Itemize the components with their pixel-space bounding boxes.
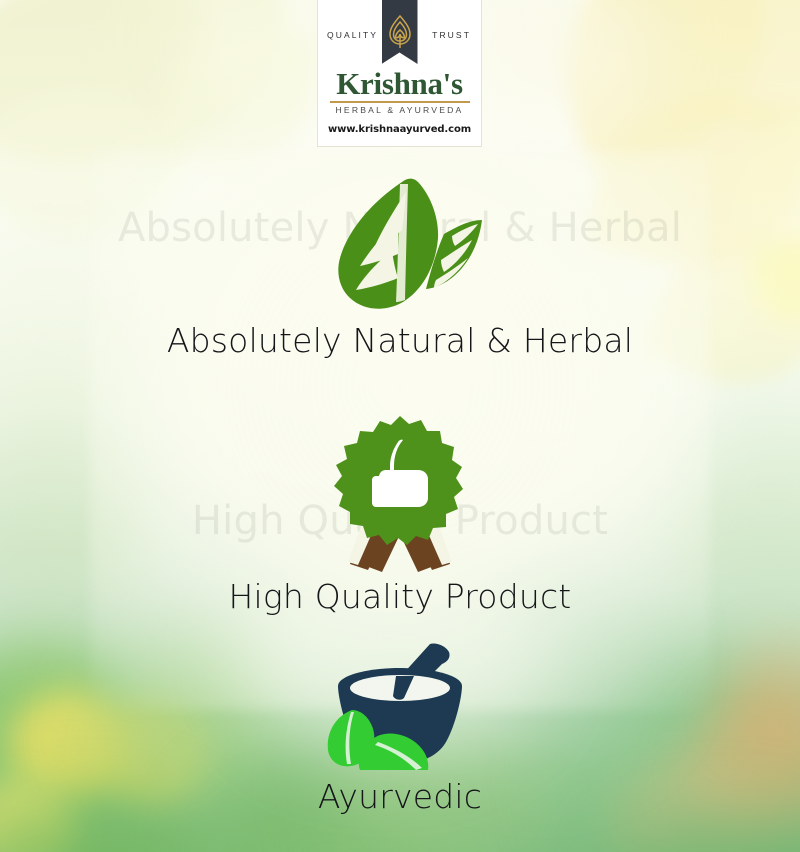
brand-tagline: HERBAL & AYURVEDA <box>336 105 464 115</box>
trust-label: TRUST <box>432 30 471 40</box>
feature-ayurvedic: Ayurvedic <box>0 642 800 816</box>
mortar-and-pestle-icon-wrap <box>0 642 800 772</box>
brand-divider <box>330 101 470 103</box>
feature-high-quality: High Quality Product <box>0 414 800 616</box>
brand-logo-card: QUALITY TRUST Krishna's HERBAL & AYURVED… <box>318 0 481 146</box>
feature-caption-ayurvedic: Ayurvedic <box>0 778 800 816</box>
quality-trust-row: QUALITY TRUST <box>318 0 481 70</box>
brand-website: www.krishnaayurved.com <box>328 124 471 135</box>
leaf-icon-wrap <box>0 176 800 316</box>
gold-leaf-flame-emblem-icon <box>382 0 418 64</box>
quality-label: QUALITY <box>327 30 378 40</box>
feature-caption-high-quality: High Quality Product <box>0 578 800 616</box>
feature-natural-herbal: Absolutely Natural & Herbal <box>0 176 800 360</box>
leaf-icon <box>310 176 490 316</box>
feature-caption-natural-herbal: Absolutely Natural & Herbal <box>0 322 800 360</box>
quality-badge-thumbs-up-icon <box>320 414 480 572</box>
mortar-and-pestle-icon <box>318 642 483 772</box>
brand-name: Krishna's <box>336 68 463 99</box>
quality-badge-icon-wrap <box>0 414 800 572</box>
product-feature-infographic: Absolutely Natural & Herbal High Quality… <box>0 0 800 852</box>
